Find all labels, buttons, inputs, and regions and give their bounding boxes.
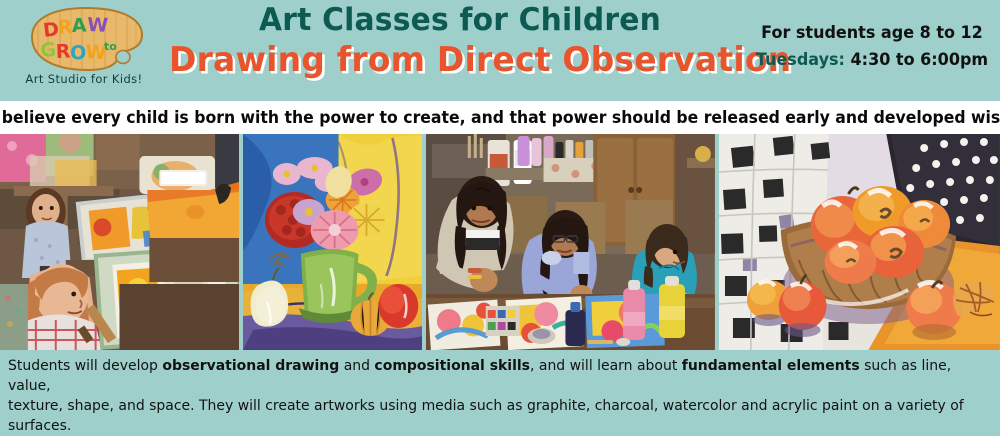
page-subtitle: Drawing from Direct Observation	[169, 40, 751, 80]
gallery-photo-fruit-painting[interactable]	[719, 134, 1000, 350]
page-title: Art Classes for Children	[172, 3, 748, 37]
desc-text-3: , and will learn about	[530, 358, 682, 374]
classroom-photo-image	[0, 134, 239, 350]
gallery-photo-flower-painting[interactable]	[243, 134, 422, 350]
desc-text-1: Students will develop	[8, 358, 162, 374]
poster-root: D R A W G R O W to Art Studio for Kids!	[0, 0, 1000, 406]
flower-painting-image	[243, 134, 422, 350]
svg-text:G: G	[40, 39, 57, 62]
palette-logo-graphic: D R A W G R O W to	[8, 4, 160, 74]
header-titles: Art Classes for Children Drawing from Di…	[160, 3, 760, 80]
poster-header: D R A W G R O W to Art Studio for Kids!	[0, 0, 1000, 101]
brand-logo[interactable]: D R A W G R O W to Art Studio for Kids!	[8, 4, 160, 98]
artist-palette-icon: D R A W G R O W to	[8, 4, 160, 74]
fruit-bowl-painting-image	[719, 134, 1000, 350]
gallery-photo-classroom[interactable]	[0, 134, 239, 350]
description-line-1: Students will develop observational draw…	[8, 356, 977, 396]
mission-band: We believe every child is born with the …	[0, 101, 1000, 134]
class-info: For students age 8 to 12 Tuesdays: 4:30 …	[752, 22, 992, 72]
svg-text:to: to	[104, 40, 117, 53]
students-painting-image	[426, 134, 715, 350]
brand-tagline: Art Studio for Kids!	[8, 72, 160, 86]
schedule-time: 4:30 to 6:00pm	[845, 50, 988, 69]
svg-text:W: W	[87, 14, 109, 37]
mission-text: We believe every child is born with the …	[0, 108, 1000, 127]
schedule-text: Tuesdays: 4:30 to 6:00pm	[756, 48, 989, 72]
desc-bold-compositional-skills: compositional skills	[374, 358, 530, 374]
age-range-text: For students age 8 to 12	[756, 22, 989, 44]
schedule-day: Tuesdays:	[756, 50, 845, 69]
description-line-2: texture, shape, and space. They will cre…	[8, 396, 977, 436]
course-description: Students will develop observational draw…	[0, 350, 1000, 406]
svg-text:R: R	[55, 40, 71, 63]
svg-text:A: A	[71, 14, 87, 37]
desc-bold-fundamental-elements: fundamental elements	[682, 358, 860, 374]
gallery-photo-students-painting[interactable]	[426, 134, 715, 350]
photo-gallery	[0, 134, 1000, 350]
desc-text-2: and	[339, 358, 374, 374]
desc-bold-observational-drawing: observational drawing	[162, 358, 339, 374]
